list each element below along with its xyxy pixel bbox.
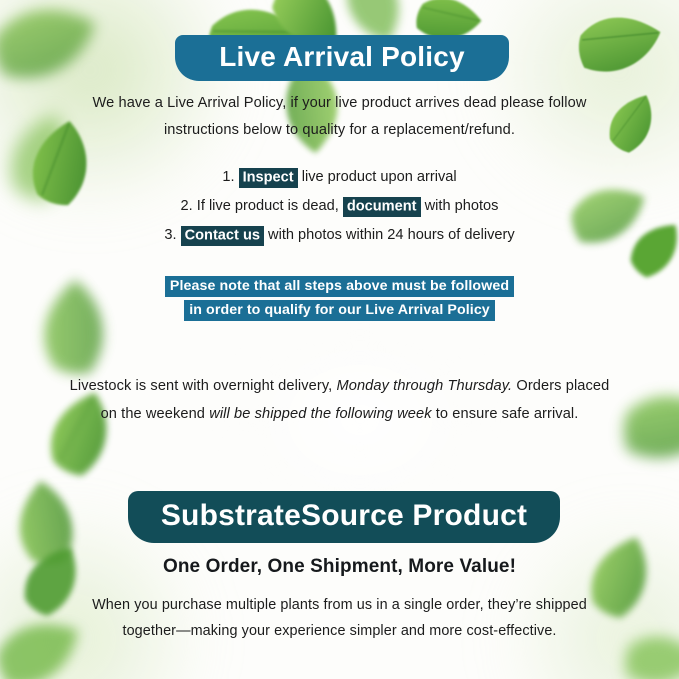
- step-text: live product upon arrival: [302, 169, 457, 185]
- step-number: 1.: [222, 169, 234, 185]
- step-text: with photos within 24 hours of delivery: [268, 227, 515, 243]
- notice-line-2: in order to qualify for our Live Arrival…: [60, 298, 619, 322]
- step-highlight: document: [343, 197, 421, 217]
- policy-intro-text: We have a Live Arrival Policy, if your l…: [60, 90, 619, 144]
- notice-line-1: Please note that all steps above must be…: [60, 274, 619, 298]
- step-text-before: If live product is dead,: [197, 198, 339, 214]
- shipping-line-2-italic: will be shipped the following week: [209, 406, 431, 422]
- step-highlight: Contact us: [181, 226, 264, 246]
- shipping-schedule-text: Livestock is sent with overnight deliver…: [60, 372, 619, 428]
- shipping-line-3: to ensure safe arrival.: [436, 406, 579, 422]
- step-highlight: Inspect: [239, 168, 298, 188]
- step-number: 3.: [164, 227, 176, 243]
- notice-chip: in order to qualify for our Live Arrival…: [184, 300, 495, 321]
- list-item: 2. If live product is dead, document wit…: [60, 192, 619, 221]
- list-item: 3. Contact us with photos within 24 hour…: [60, 221, 619, 250]
- list-item: 1. Inspect live product upon arrival: [60, 163, 619, 192]
- shipping-line-1-plain: Livestock is sent with overnight deliver…: [70, 378, 333, 394]
- notice-chip: Please note that all steps above must be…: [165, 276, 514, 297]
- substratesource-product-banner: SubstrateSource Product: [128, 491, 560, 543]
- product-subheading: One Order, One Shipment, More Value!: [60, 556, 619, 578]
- product-description-text: When you purchase multiple plants from u…: [70, 592, 609, 644]
- promo-graphic: Live Arrival Policy We have a Live Arriv…: [0, 0, 679, 679]
- step-number: 2.: [181, 198, 193, 214]
- shipping-line-1-italic: Monday through Thursday.: [336, 378, 512, 394]
- policy-notice: Please note that all steps above must be…: [60, 274, 619, 322]
- live-arrival-policy-banner: Live Arrival Policy: [175, 35, 509, 81]
- policy-steps-list: 1. Inspect live product upon arrival 2. …: [60, 163, 619, 250]
- step-text: with photos: [425, 198, 499, 214]
